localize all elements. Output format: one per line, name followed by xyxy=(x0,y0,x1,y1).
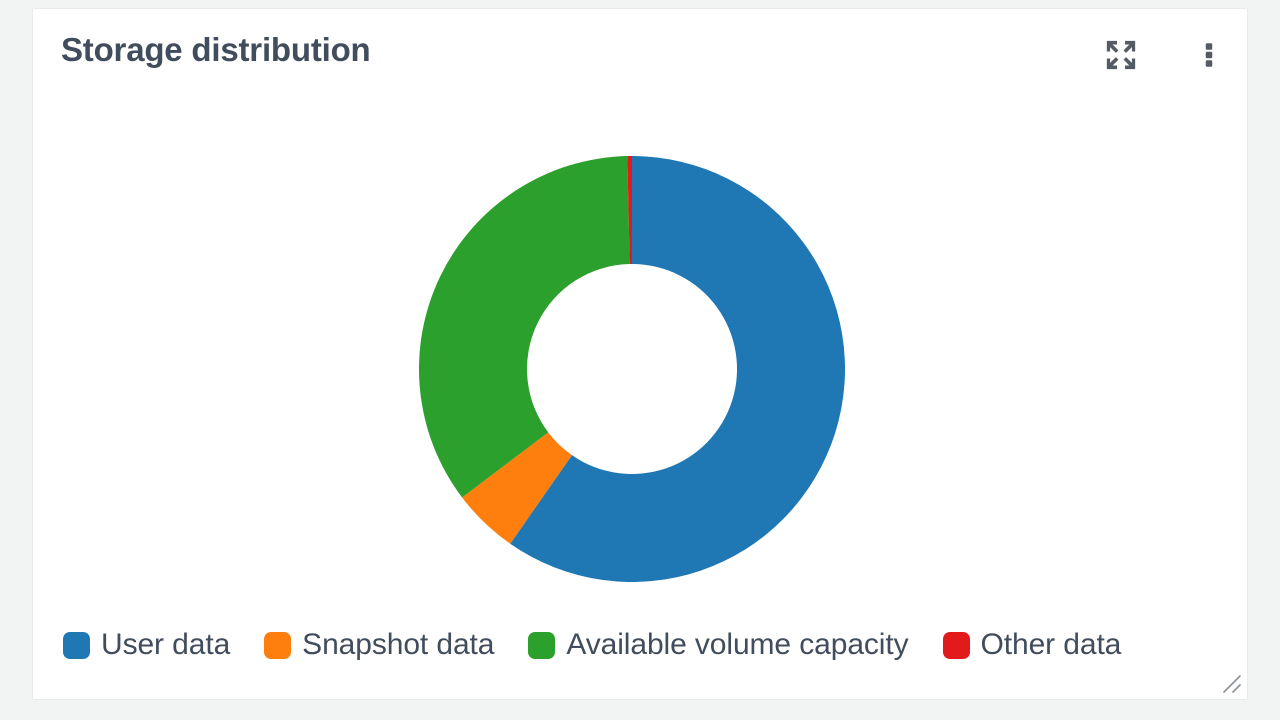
enlarge-icon xyxy=(1104,38,1138,72)
legend-label: Available volume capacity xyxy=(566,630,908,660)
legend-item[interactable]: Other data xyxy=(943,630,1122,660)
widget-header: Storage distribution xyxy=(33,9,1248,105)
legend-label: Other data xyxy=(981,630,1122,660)
legend-item[interactable]: User data xyxy=(63,630,230,660)
legend-label: Snapshot data xyxy=(302,630,494,660)
legend-color-swatch xyxy=(63,632,90,659)
widget-header-actions xyxy=(1099,33,1231,77)
donut-segment[interactable]: Available volume capacity: 34.9% xyxy=(419,156,630,497)
enlarge-button[interactable] xyxy=(1099,33,1143,77)
legend-label: User data xyxy=(101,630,230,660)
storage-distribution-widget: Storage distribution xyxy=(32,8,1248,700)
legend-item[interactable]: Snapshot data xyxy=(264,630,494,660)
chart-legend: User dataSnapshot dataAvailable volume c… xyxy=(63,621,1223,669)
legend-color-swatch xyxy=(528,632,555,659)
chart-area: User data: 59.6%Snapshot data: 5%Availab… xyxy=(33,105,1248,617)
resize-grip-icon xyxy=(1221,673,1243,695)
donut-chart: User data: 59.6%Snapshot data: 5%Availab… xyxy=(33,105,1248,617)
donut-chart-svg[interactable]: User data: 59.6%Snapshot data: 5%Availab… xyxy=(402,139,862,599)
legend-item[interactable]: Available volume capacity xyxy=(528,630,908,660)
resize-handle[interactable] xyxy=(1221,673,1243,695)
dashboard-page: Storage distribution xyxy=(0,0,1280,720)
more-options-button[interactable] xyxy=(1187,33,1231,77)
legend-color-swatch xyxy=(264,632,291,659)
legend-color-swatch xyxy=(943,632,970,659)
page-title: Storage distribution xyxy=(61,31,371,69)
more-options-icon xyxy=(1194,40,1224,70)
